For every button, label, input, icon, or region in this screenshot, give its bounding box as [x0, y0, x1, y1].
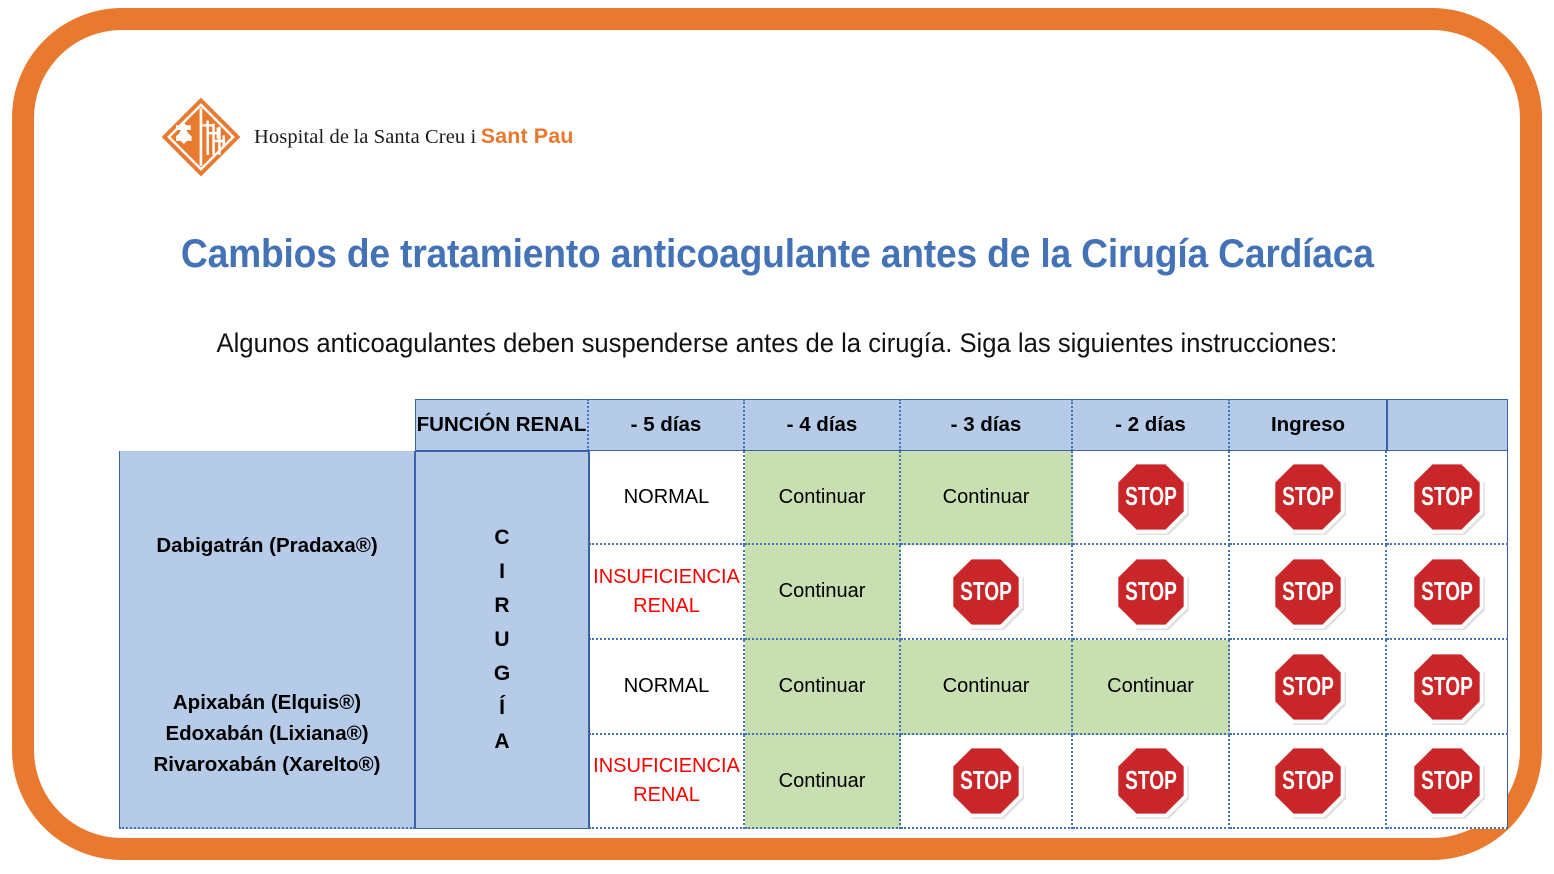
renal-insuf-line-1: INSUFICIENCIA — [593, 563, 740, 592]
logo-line-1: Hospital de — [254, 126, 349, 148]
page-subtitle-text: Algunos anticoagulantes deben suspenders… — [217, 328, 1338, 359]
cell-xabans-normal-minus4: Continuar — [901, 640, 1073, 735]
cell-xabans-normal-minus5: Continuar — [745, 640, 901, 735]
svg-text:STOP: STOP — [1125, 578, 1177, 606]
stop-sign-icon: STOP — [1409, 554, 1485, 630]
cell-xabans-insuf-minus2: STOP — [1230, 735, 1387, 829]
drug-name-line: Apixabán (Elquis®) — [173, 687, 361, 718]
header-cell-ingreso: Ingreso — [1230, 399, 1387, 451]
cell-xabans-normal-ingreso: STOP — [1387, 640, 1508, 735]
cell-xabans-normal-minus3: Continuar — [1073, 640, 1230, 735]
hospital-logo-text: Hospital de la Santa Creu i Sant Pau — [254, 125, 574, 148]
renal-status-normal-dabigatran: NORMAL — [589, 451, 745, 545]
stop-sign-icon: STOP — [1409, 649, 1485, 725]
header-cell-empty-drug — [119, 399, 415, 451]
svg-text:STOP: STOP — [960, 578, 1012, 606]
stop-sign-icon: STOP — [1270, 649, 1346, 725]
svg-text:STOP: STOP — [1282, 483, 1334, 511]
svg-text:STOP: STOP — [1421, 673, 1473, 701]
header-cell-renal-function: FUNCIÓN RENAL — [415, 399, 589, 451]
cell-dabigatran-insuf-ingreso: STOP — [1387, 545, 1508, 640]
surgery-letter: U — [494, 623, 509, 657]
page-subtitle: Algunos anticoagulantes deben suspenders… — [77, 328, 1477, 359]
cell-xabans-insuf-minus5: Continuar — [745, 735, 901, 829]
surgery-letter: I — [499, 555, 505, 589]
surgery-letter: G — [494, 657, 510, 691]
logo-line-2: la Santa Creu i — [354, 126, 477, 148]
cell-dabigatran-normal-ingreso: STOP — [1387, 451, 1508, 545]
surgery-letter: Í — [499, 691, 505, 725]
svg-text:STOP: STOP — [1125, 767, 1177, 795]
header-cell-minus-3-days: - 3 días — [901, 399, 1073, 451]
surgery-letter: C — [494, 521, 509, 555]
drug-name-line: Dabigatrán (Pradaxa®) — [156, 530, 377, 561]
stop-sign-icon: STOP — [1113, 554, 1189, 630]
stop-sign-icon: STOP — [948, 743, 1024, 819]
drug-name-line: Edoxabán (Lixiana®) — [165, 718, 368, 749]
page-title: Cambios de tratamiento anticoagulante an… — [67, 232, 1487, 277]
page-title-text: Cambios de tratamiento anticoagulante an… — [181, 232, 1374, 277]
svg-text:STOP: STOP — [1421, 767, 1473, 795]
cell-dabigatran-normal-minus2: STOP — [1230, 451, 1387, 545]
header-cell-minus-2-days: - 2 días — [1073, 399, 1230, 451]
drug-label-dabigatran: Dabigatrán (Pradaxa®) — [119, 451, 415, 640]
hospital-logo: Hospital de la Santa Creu i Sant Pau — [162, 98, 574, 176]
stop-sign-icon: STOP — [1270, 743, 1346, 819]
stop-sign-icon: STOP — [1270, 554, 1346, 630]
stop-sign-icon: STOP — [1409, 743, 1485, 819]
cell-dabigatran-normal-minus4: Continuar — [901, 451, 1073, 545]
stop-sign-icon: STOP — [1270, 459, 1346, 535]
renal-insuf-line-2: RENAL — [593, 781, 740, 810]
stop-sign-icon: STOP — [1113, 743, 1189, 819]
drug-label-xabans: Apixabán (Elquis®) Edoxabán (Lixiana®) R… — [119, 640, 415, 829]
svg-text:STOP: STOP — [1282, 673, 1334, 701]
svg-text:STOP: STOP — [1421, 578, 1473, 606]
cell-xabans-insuf-minus4: STOP — [901, 735, 1073, 829]
cell-dabigatran-insuf-minus4: STOP — [901, 545, 1073, 640]
cell-dabigatran-insuf-minus3: STOP — [1073, 545, 1230, 640]
surgery-column: C I R U G Í A — [415, 451, 589, 829]
anticoagulant-schedule-table: FUNCIÓN RENAL - 5 días - 4 días - 3 días… — [119, 399, 1508, 829]
svg-text:STOP: STOP — [1125, 483, 1177, 511]
svg-text:STOP: STOP — [960, 767, 1012, 795]
cell-dabigatran-normal-minus3: STOP — [1073, 451, 1230, 545]
drug-name-line: Rivaroxabán (Xarelto®) — [153, 749, 380, 780]
renal-insuf-line-1: INSUFICIENCIA — [593, 752, 740, 781]
cell-dabigatran-normal-minus5: Continuar — [745, 451, 901, 545]
cell-xabans-insuf-ingreso: STOP — [1387, 735, 1508, 829]
surgery-letter: R — [494, 589, 509, 623]
stop-sign-icon: STOP — [948, 554, 1024, 630]
cell-dabigatran-insuf-minus2: STOP — [1230, 545, 1387, 640]
hospital-sant-pau-diamond-logo-icon — [162, 98, 240, 176]
svg-text:STOP: STOP — [1282, 578, 1334, 606]
orange-border-frame: Hospital de la Santa Creu i Sant Pau Cam… — [12, 8, 1542, 860]
cell-xabans-insuf-minus3: STOP — [1073, 735, 1230, 829]
poster-body: Hospital de la Santa Creu i Sant Pau Cam… — [34, 30, 1520, 838]
renal-insuf-line-2: RENAL — [593, 592, 740, 621]
cell-dabigatran-insuf-minus5: Continuar — [745, 545, 901, 640]
svg-text:STOP: STOP — [1282, 767, 1334, 795]
header-cell-surgery-spacer — [1387, 399, 1508, 451]
header-cell-minus-5-days: - 5 días — [589, 399, 745, 451]
renal-status-normal-xabans: NORMAL — [589, 640, 745, 735]
stop-sign-icon: STOP — [1409, 459, 1485, 535]
renal-status-insuficiencia-xabans: INSUFICIENCIA RENAL — [589, 735, 745, 829]
header-cell-minus-4-days: - 4 días — [745, 399, 901, 451]
surgery-letter: A — [494, 725, 509, 759]
logo-line-3: Sant Pau — [481, 122, 574, 148]
renal-status-insuficiencia-dabigatran: INSUFICIENCIA RENAL — [589, 545, 745, 640]
svg-text:STOP: STOP — [1421, 483, 1473, 511]
cell-xabans-normal-minus2: STOP — [1230, 640, 1387, 735]
stop-sign-icon: STOP — [1113, 459, 1189, 535]
